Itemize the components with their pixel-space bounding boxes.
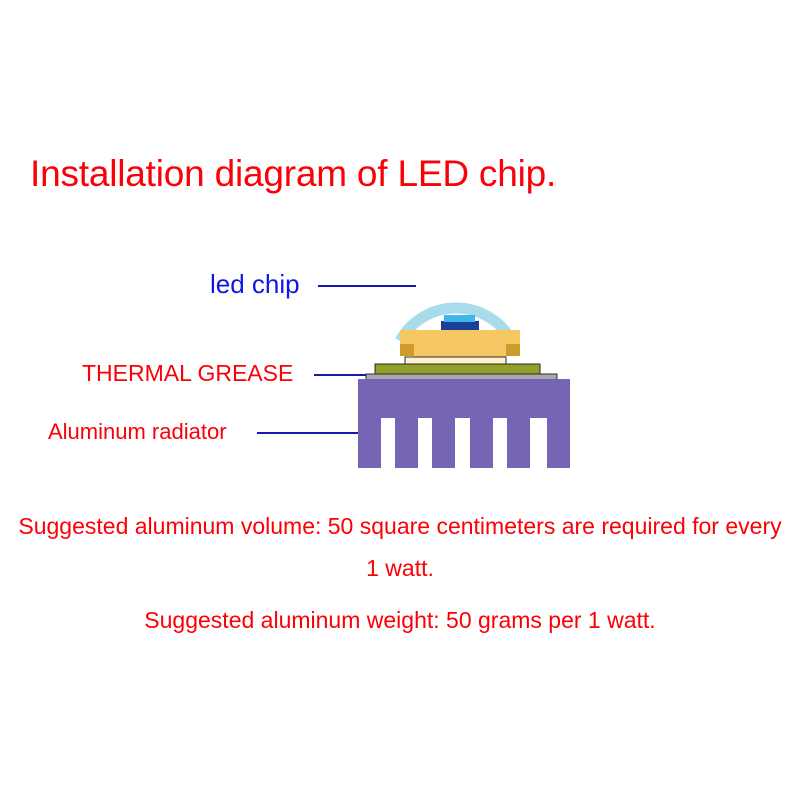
label-led-chip: led chip <box>210 271 300 297</box>
heatsink-fin <box>395 418 418 468</box>
heatsink-fin <box>470 418 493 468</box>
note-aluminum-weight: Suggested aluminum weight: 50 grams per … <box>0 599 800 641</box>
led-assembly-illustration <box>0 0 800 800</box>
package-body-lower <box>414 344 506 358</box>
heatsink-fin <box>547 418 570 468</box>
page-title: Installation diagram of LED chip. <box>30 152 556 196</box>
led-die-body <box>441 321 479 330</box>
heatsink-fin <box>432 418 455 468</box>
leader-line-led-chip <box>318 285 416 287</box>
lens-dome-icon <box>400 308 512 341</box>
label-aluminum-radiator: Aluminum radiator <box>48 421 227 443</box>
heatsink-fin <box>358 418 381 468</box>
leader-line-thermal-grease <box>314 374 366 376</box>
heatsink-fin <box>507 418 530 468</box>
package-tab-right <box>492 330 520 356</box>
interface-layer <box>366 374 557 380</box>
thermal-grease-layer <box>375 364 540 375</box>
diagram-page: Installation diagram of LED chip. led ch… <box>0 0 800 800</box>
led-die-top <box>444 315 475 322</box>
substrate-layer <box>405 357 506 365</box>
package-body-upper <box>400 330 520 344</box>
package-tab-left <box>400 330 428 356</box>
note-aluminum-volume: Suggested aluminum volume: 50 square cen… <box>0 505 800 589</box>
leader-line-aluminum-radiator <box>257 432 359 434</box>
heatsink-baseplate <box>358 379 570 418</box>
label-thermal-grease: THERMAL GREASE <box>82 362 293 385</box>
notes-block: Suggested aluminum volume: 50 square cen… <box>0 505 800 641</box>
